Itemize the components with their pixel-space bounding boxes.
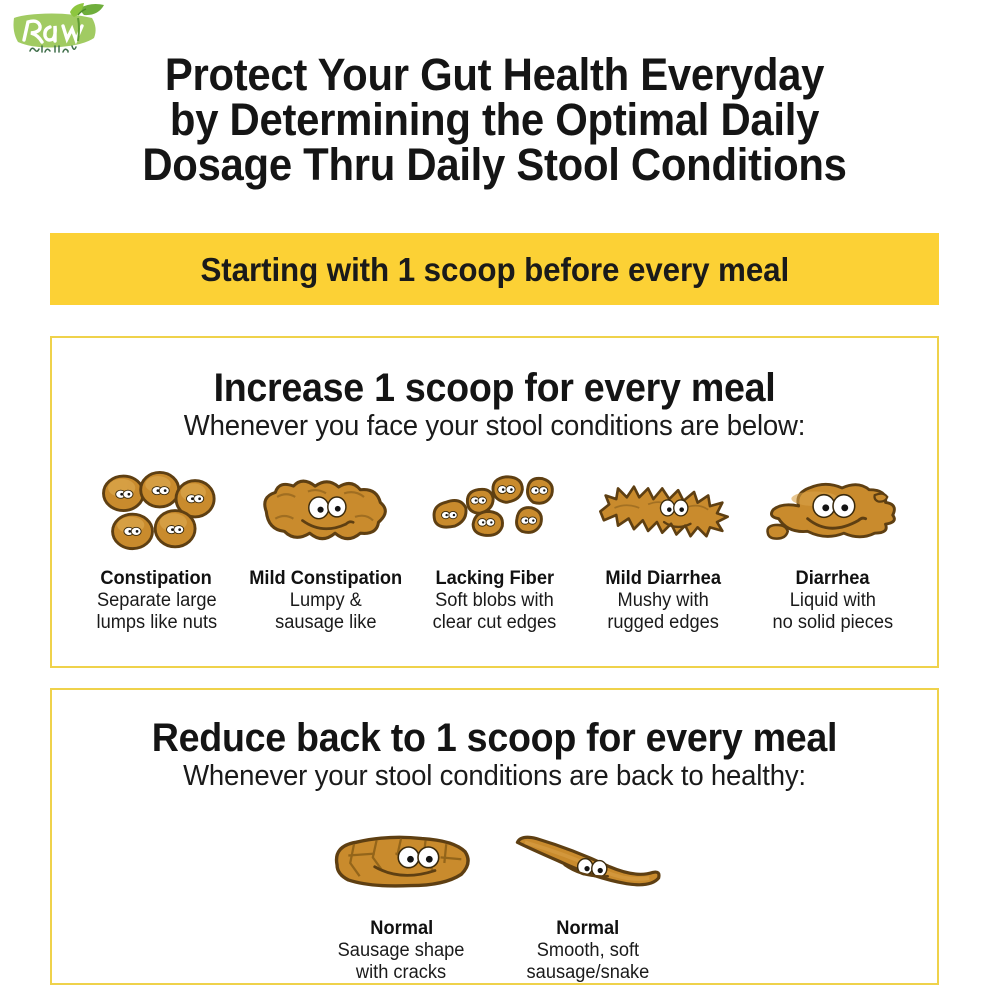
cracked-sausage-icon <box>309 819 495 907</box>
page-title-line-3: Dosage Thru Daily Stool Conditions <box>35 142 955 187</box>
starting-dosage-text: Starting with 1 scoop before every meal <box>200 253 789 286</box>
stool-label-name: Lacking Fiber <box>435 567 554 590</box>
stool-type-constipation[interactable]: Constipation Separate large lumps like n… <box>72 465 241 634</box>
stool-label-name: Normal <box>556 917 619 940</box>
stool-label-desc: Sausage shape with cracks <box>338 940 465 984</box>
starting-dosage-banner: Starting with 1 scoop before every meal <box>50 233 939 305</box>
increase-subheading: Whenever you face your stool conditions … <box>74 410 915 443</box>
stool-label-name: Mild Constipation <box>249 567 402 590</box>
stool-label-desc: Mushy with rugged edges <box>608 590 720 634</box>
stool-type-mild-diarrhea[interactable]: Mild Diarrhea Mushy with rugged edges <box>579 465 748 634</box>
increase-heading: Increase 1 scoop for every meal <box>79 366 911 410</box>
stool-label-name: Mild Diarrhea <box>606 567 722 590</box>
stool-label-desc: Liquid with no solid pieces <box>772 590 893 634</box>
soft-blobs-icon <box>410 465 579 557</box>
stool-label-desc: Soft blobs with clear cut edges <box>433 590 557 634</box>
smooth-snake-icon <box>495 819 681 907</box>
page-title: Protect Your Gut Health Everyday by Dete… <box>35 52 955 187</box>
stool-type-normal-cracked[interactable]: Normal Sausage shape with cracks <box>309 819 495 984</box>
mushy-ragged-icon <box>579 465 748 557</box>
increase-stool-list: Constipation Separate large lumps like n… <box>52 465 937 634</box>
stool-type-diarrhea[interactable]: Diarrhea Liquid with no solid pieces <box>748 465 917 634</box>
stool-label-desc: Lumpy & sausage like <box>275 590 376 634</box>
liquid-puddle-icon <box>748 465 917 557</box>
stool-label-name: Constipation <box>101 567 212 590</box>
reduce-stool-list: Normal Sausage shape with cracks <box>52 819 937 984</box>
stool-label-name: Normal <box>370 917 433 940</box>
page-title-line-2: by Determining the Optimal Daily <box>35 97 955 142</box>
separate-lumps-icon <box>72 465 241 557</box>
reduce-dosage-panel: Reduce back to 1 scoop for every meal Wh… <box>50 688 939 985</box>
brand-logo[interactable] <box>8 2 116 54</box>
lumpy-sausage-icon <box>241 465 410 557</box>
stool-type-mild-constipation[interactable]: Mild Constipation Lumpy & sausage like <box>241 465 410 634</box>
stool-label-desc: Separate large lumps like nuts <box>96 590 217 634</box>
reduce-heading: Reduce back to 1 scoop for every meal <box>79 716 911 760</box>
page-title-line-1: Protect Your Gut Health Everyday <box>35 52 955 97</box>
stool-label-name: Diarrhea <box>795 567 869 590</box>
stool-type-normal-smooth[interactable]: Normal Smooth, soft sausage/snake <box>495 819 681 984</box>
stool-type-lacking-fiber[interactable]: Lacking Fiber Soft blobs with clear cut … <box>410 465 579 634</box>
reduce-subheading: Whenever your stool conditions are back … <box>74 760 915 793</box>
stool-label-desc: Smooth, soft sausage/snake <box>526 940 649 984</box>
raw-food-life-logo-icon <box>8 2 116 54</box>
increase-dosage-panel: Increase 1 scoop for every meal Whenever… <box>50 336 939 668</box>
